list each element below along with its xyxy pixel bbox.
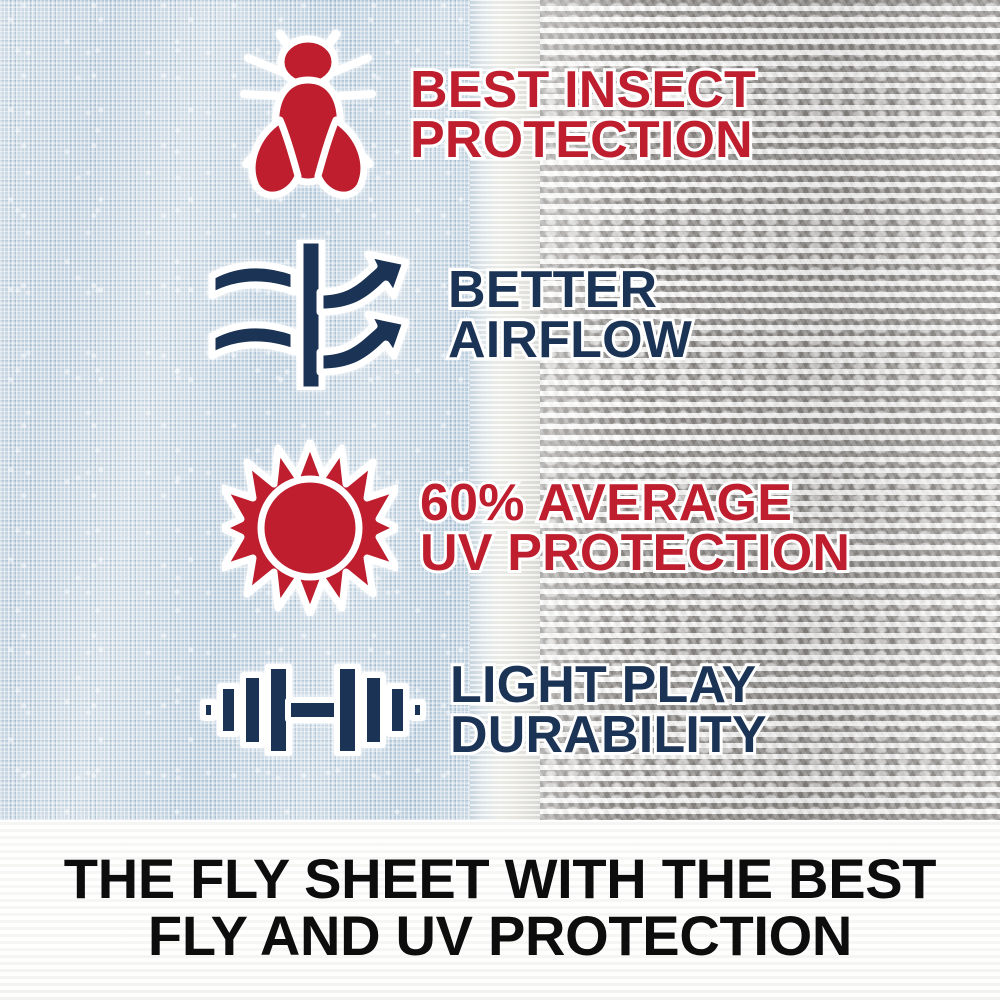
- feature-label-uv: 60% AVERAGE UV PROTECTION: [420, 478, 850, 579]
- sun-icon: [222, 440, 398, 616]
- feature-label-insect: BEST INSECT PROTECTION: [410, 65, 756, 166]
- dumbbell-icon: [200, 664, 426, 756]
- feature-label-durability: LIGHT PLAY DURABILITY: [450, 660, 767, 761]
- feature-row-uv: 60% AVERAGE UV PROTECTION: [222, 440, 850, 616]
- infographic-root: BEST INSECT PROTECTION BETTER AIRFLOW: [0, 0, 1000, 1000]
- caption-line-2: FLY AND UV PROTECTION: [148, 907, 852, 964]
- airflow-arrows-icon: [208, 240, 418, 390]
- feature-row-insect: BEST INSECT PROTECTION: [232, 24, 756, 204]
- feature-row-airflow: BETTER AIRFLOW: [208, 240, 692, 390]
- feature-label-airflow: BETTER AIRFLOW: [448, 265, 692, 366]
- fly-icon: [232, 24, 384, 204]
- caption-line-1: THE FLY SHEET WITH THE BEST: [64, 850, 936, 907]
- feature-row-durability: LIGHT PLAY DURABILITY: [200, 660, 767, 761]
- caption-bar: THE FLY SHEET WITH THE BEST FLY AND UV P…: [0, 820, 1000, 1000]
